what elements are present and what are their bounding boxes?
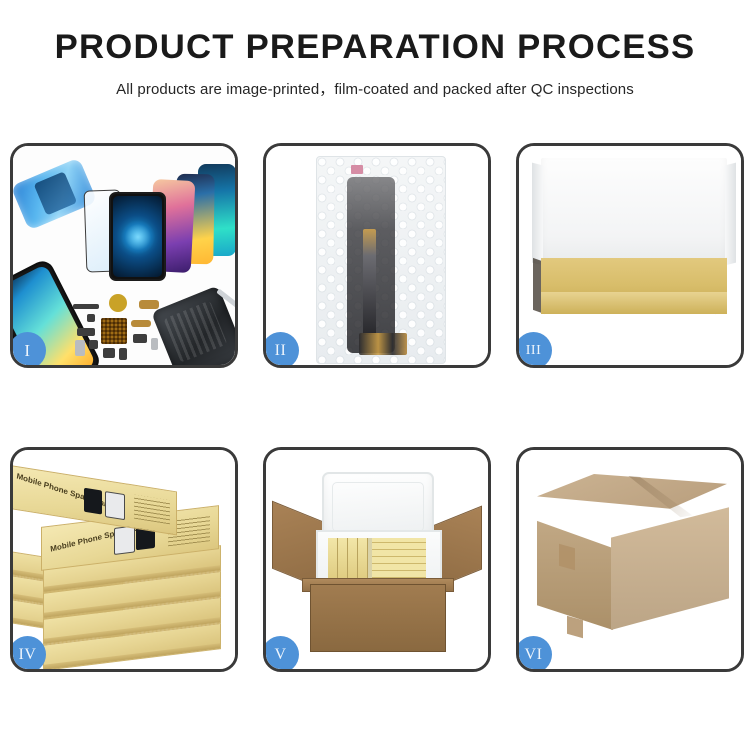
spare-parts-cluster <box>73 294 183 364</box>
product-preparation-process-page: PRODUCT PREPARATION PROCESS All products… <box>0 0 750 750</box>
step-2-image <box>266 146 488 365</box>
page-title: PRODUCT PREPARATION PROCESS <box>0 30 750 64</box>
kraft-tray-front <box>541 292 727 314</box>
process-step-panel-5[interactable]: V <box>263 447 491 672</box>
step-6-image <box>519 450 741 669</box>
retail-box-stack: Mobile Phone Spare Parts Mobile Phone Sp… <box>13 458 235 669</box>
step-badge-6: VI <box>516 636 552 672</box>
step-badge-5: V <box>263 636 299 672</box>
carton-tape-lower <box>567 616 583 639</box>
carton-right-face <box>611 498 729 630</box>
process-step-panel-4[interactable]: Mobile Phone Spare Parts Mobile Phone Sp… <box>10 447 238 672</box>
carton-tape-upper <box>559 544 575 571</box>
pink-seal-tape <box>351 165 363 174</box>
process-step-panel-6[interactable]: VI <box>516 447 744 672</box>
wrapped-connector <box>359 333 407 355</box>
step-badge-1: I <box>10 332 46 368</box>
process-step-panel-3[interactable]: III <box>516 143 744 368</box>
step-badge-3: III <box>516 332 552 368</box>
process-step-panel-2[interactable]: II <box>263 143 491 368</box>
step-5-image <box>266 450 488 669</box>
white-box-lid <box>541 158 727 270</box>
process-step-panel-1[interactable]: I <box>10 143 238 368</box>
step-badge-4: IV <box>10 636 46 672</box>
step-badge-2: II <box>263 332 299 368</box>
carton-front-wall <box>310 584 446 652</box>
process-steps-grid: I II <box>10 143 740 672</box>
phone-black-front <box>109 192 166 281</box>
wrapped-flex-cable <box>363 229 376 335</box>
bubble-wrap-bag <box>316 156 446 364</box>
page-subtitle: All products are image-printed，film-coat… <box>0 78 750 99</box>
carton-left-face <box>537 506 613 630</box>
step-1-image <box>13 146 235 365</box>
step-4-image: Mobile Phone Spare Parts Mobile Phone Sp… <box>13 450 235 669</box>
page-header: PRODUCT PREPARATION PROCESS All products… <box>0 0 750 99</box>
step-3-image <box>519 146 741 365</box>
